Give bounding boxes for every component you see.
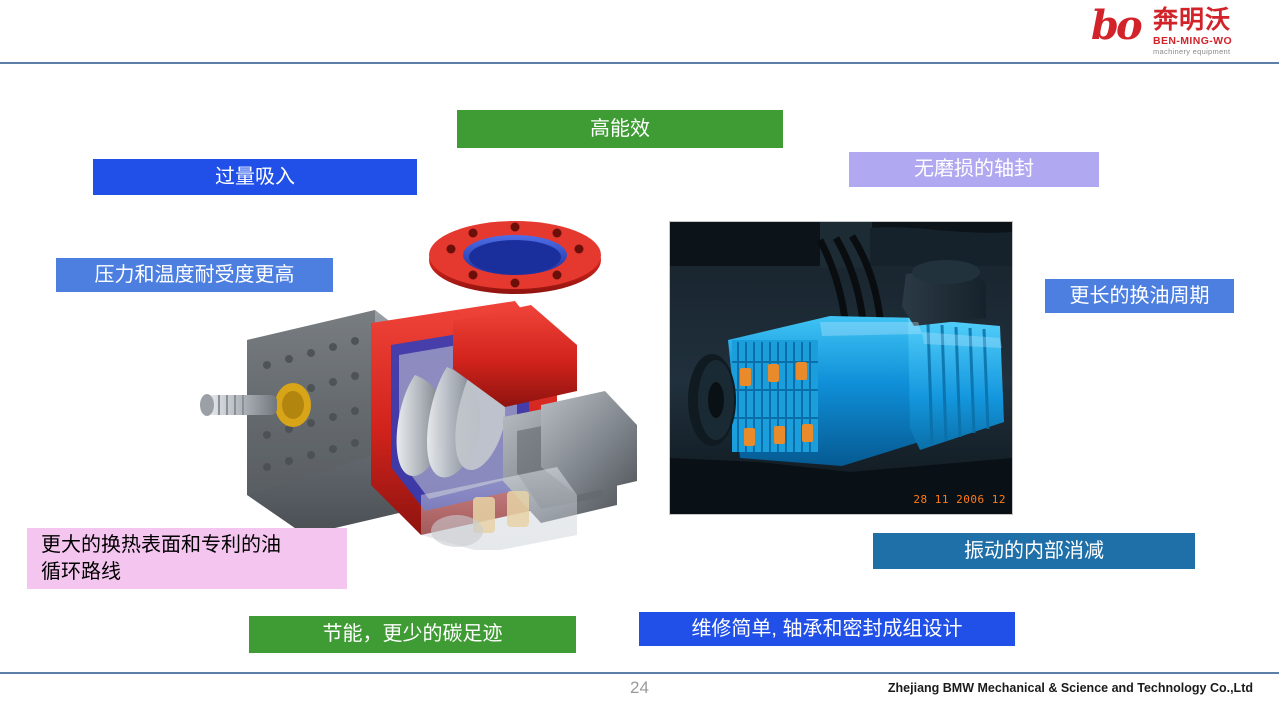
- logo-mark-icon: bo: [1091, 6, 1140, 46]
- header-divider: [0, 62, 1279, 64]
- slide: bo 奔明沃 BEN-MING-WO machinery equipment: [0, 0, 1279, 720]
- logo-tagline: machinery equipment: [1153, 47, 1230, 57]
- compressor-photo-image: 28 11 2006 12: [669, 221, 1013, 515]
- callout-internal-vibration-reduction: 振动的内部消减: [873, 533, 1195, 569]
- company-logo: bo 奔明沃 BEN-MING-WO machinery equipment: [1091, 4, 1261, 58]
- callout-energy-saving-carbon-footprint: 节能，更少的碳足迹: [249, 616, 576, 653]
- callout-over-suction: 过量吸入: [93, 159, 417, 195]
- callout-larger-heat-exchange-surface: 更大的换热表面和专利的油 循环路线: [27, 528, 347, 589]
- logo-english-name: BEN-MING-WO: [1153, 35, 1232, 47]
- screw-compressor-render-image: [185, 205, 655, 550]
- callout-wearless-shaft-seal: 无磨损的轴封: [849, 152, 1099, 187]
- footer-company-name: Zhejiang BMW Mechanical & Science and Te…: [888, 681, 1253, 695]
- callout-higher-pressure-temperature: 压力和温度耐受度更高: [56, 258, 333, 292]
- logo-chinese-name: 奔明沃: [1153, 6, 1231, 34]
- callout-longer-oil-change-interval: 更长的换油周期: [1045, 279, 1234, 313]
- footer-divider: [0, 672, 1279, 674]
- callout-simple-maintenance: 维修简单, 轴承和密封成组设计: [639, 612, 1015, 646]
- photo-timestamp: 28 11 2006 12: [913, 493, 1006, 506]
- callout-high-efficiency: 高能效: [457, 110, 783, 148]
